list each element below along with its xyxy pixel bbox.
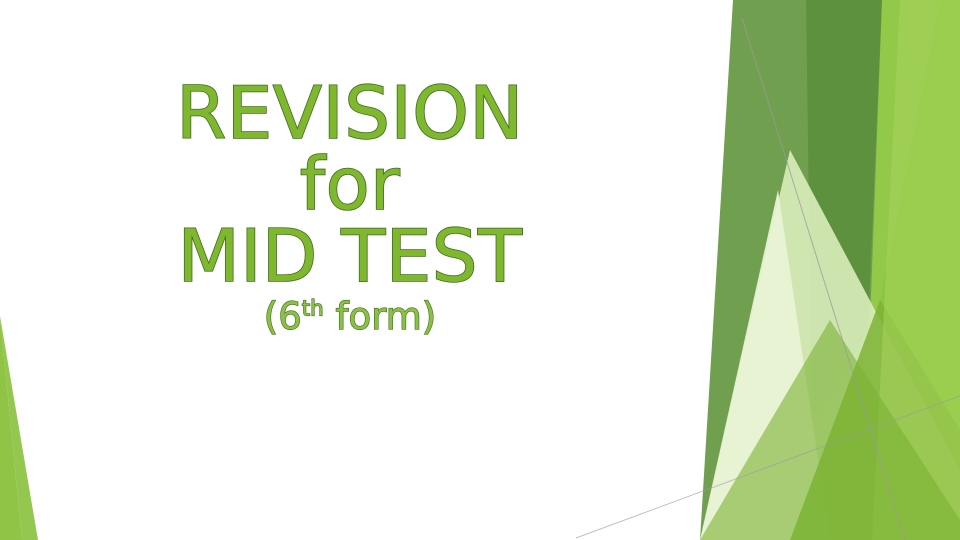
deco-shape-very-pale-sliver bbox=[700, 190, 830, 540]
deco-shape-vivid-right-2 bbox=[700, 0, 960, 540]
title-line-2: for bbox=[0, 149, 700, 220]
subtitle-prefix: (6 bbox=[264, 295, 302, 338]
deco-shape-left-wedge-tip bbox=[0, 316, 38, 540]
slide-canvas: REVISION for MID TEST (6th form) bbox=[0, 0, 960, 540]
accent-line-primary bbox=[742, 18, 905, 540]
deco-shape-mid-band bbox=[790, 300, 960, 540]
accent-line-secondary bbox=[576, 396, 960, 538]
subtitle-superscript: th bbox=[302, 296, 324, 321]
subtitle-suffix: form) bbox=[324, 295, 436, 338]
deco-shape-light-overlay bbox=[872, 0, 960, 540]
deco-shape-medium-green bbox=[700, 0, 882, 540]
title-line-1: REVISION bbox=[0, 78, 700, 149]
deco-shape-left-wedge bbox=[0, 316, 22, 540]
deco-shape-bright-lower bbox=[700, 320, 960, 540]
deco-shape-vivid-right bbox=[822, 0, 960, 540]
subtitle-line: (6th form) bbox=[0, 298, 700, 337]
deco-shape-dark-green bbox=[806, 0, 882, 430]
title-text-block: REVISION for MID TEST (6th form) bbox=[0, 78, 700, 337]
deco-shape-pale-sweep bbox=[700, 150, 960, 540]
title-line-3: MID TEST bbox=[0, 221, 700, 292]
